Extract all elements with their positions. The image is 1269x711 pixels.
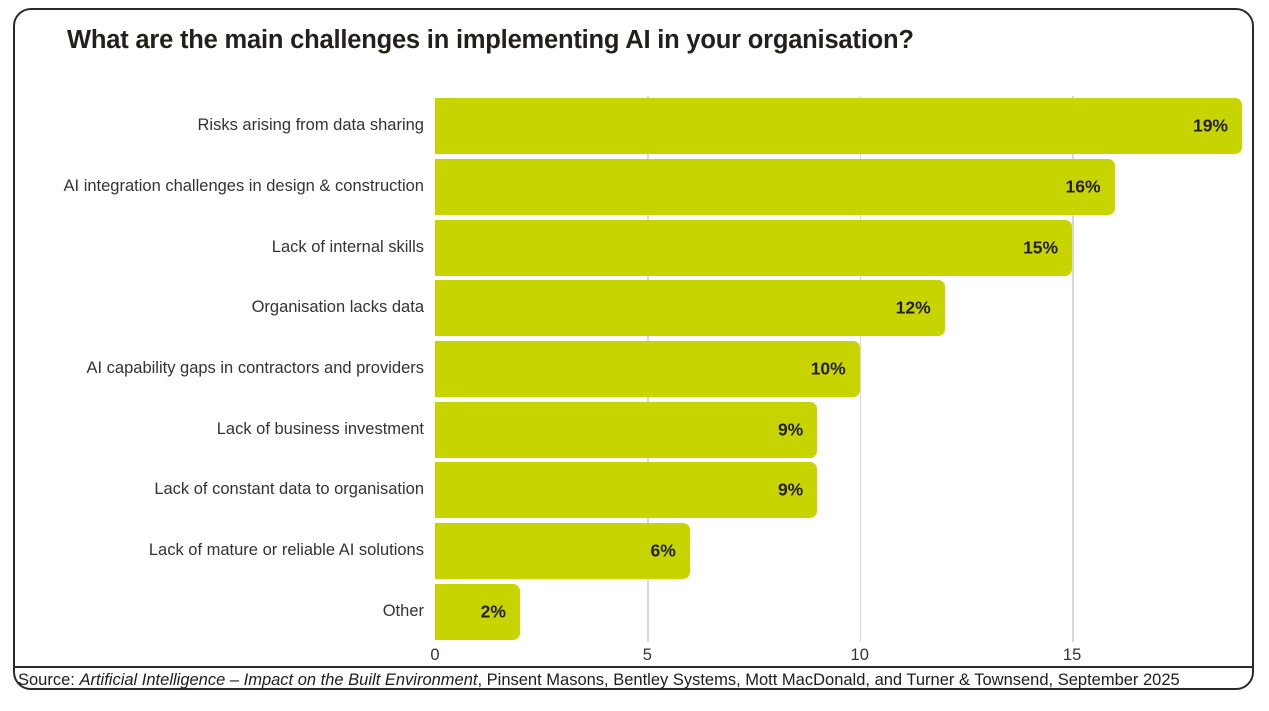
bar[interactable] [435,98,1242,154]
bar-value-label: 16% [1066,177,1101,198]
category-axis-labels: Risks arising from data sharingAI integr… [0,96,424,642]
source-rest: , Pinsent Masons, Bentley Systems, Mott … [477,671,1179,689]
category-label: AI capability gaps in contractors and pr… [0,360,424,377]
bar-row[interactable]: 9% [435,402,1242,458]
bar[interactable] [435,220,1072,276]
category-label: Lack of internal skills [0,239,424,256]
bar-value-label: 9% [778,480,803,501]
bar-value-label: 12% [896,298,931,319]
bar-row[interactable]: 19% [435,98,1242,154]
bar[interactable] [435,462,817,518]
bar-row[interactable]: 6% [435,523,1242,579]
xtick-label-15: 15 [1063,646,1081,665]
chart-title: What are the main challenges in implemen… [67,26,914,55]
source-note: Source: Artificial Intelligence – Impact… [18,671,1180,690]
source-report-title: Artificial Intelligence – Impact on the … [79,671,477,689]
bar[interactable] [435,280,945,336]
xtick-label-0: 0 [430,646,439,665]
xtick-label-5: 5 [643,646,652,665]
bar-row[interactable]: 12% [435,280,1242,336]
bar-row[interactable]: 16% [435,159,1242,215]
bar[interactable] [435,402,817,458]
bar-row[interactable]: 9% [435,462,1242,518]
xtick-label-10: 10 [851,646,869,665]
bar[interactable] [435,341,860,397]
source-divider [14,666,1253,668]
source-prefix: Source: [18,671,79,689]
bar-value-label: 10% [811,359,846,380]
category-label: Lack of business investment [0,421,424,438]
bar-row[interactable]: 10% [435,341,1242,397]
category-label: Lack of mature or reliable AI solutions [0,542,424,559]
bar[interactable] [435,584,520,640]
bar[interactable] [435,159,1115,215]
bar-value-label: 9% [778,419,803,440]
bar-value-label: 19% [1193,116,1228,137]
bar-value-label: 2% [481,601,506,622]
category-label: Organisation lacks data [0,299,424,316]
category-label: Other [0,603,424,620]
bar-value-label: 15% [1023,237,1058,258]
bar-value-label: 6% [651,541,676,562]
plot-area: 19%16%15%12%10%9%9%6%2% [435,96,1242,642]
category-label: AI integration challenges in design & co… [0,178,424,195]
category-label: Risks arising from data sharing [0,117,424,134]
category-label: Lack of constant data to organisation [0,481,424,498]
chart-figure: What are the main challenges in implemen… [0,0,1269,711]
bar-row[interactable]: 15% [435,220,1242,276]
bar-row[interactable]: 2% [435,584,1242,640]
